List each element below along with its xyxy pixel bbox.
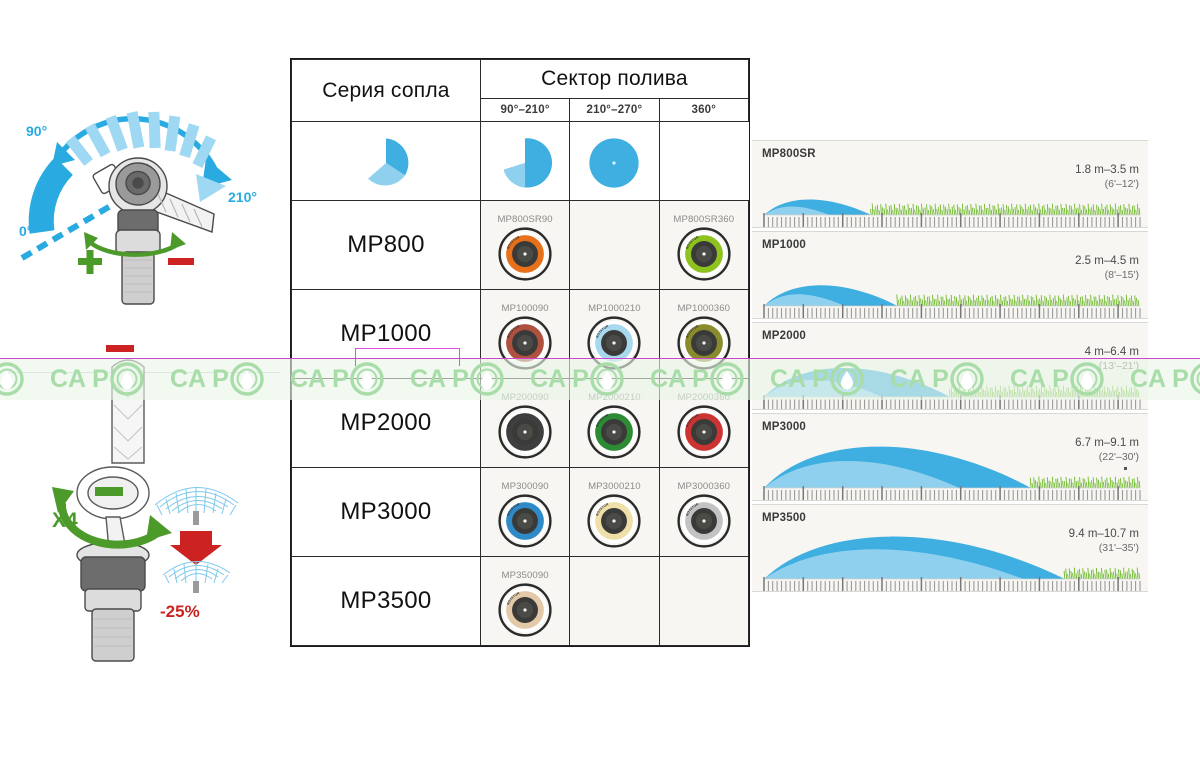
arc-adjustment-illustration: 90° 210° 0° [0, 80, 288, 310]
nozzle-code-label: MP2000210 [570, 392, 658, 403]
nozzle-icon: ROTATOR [498, 583, 552, 637]
radius-panel-MP1000: MP10002.5 m–4.5 m(8'–15') [752, 231, 1148, 319]
radius-panel-MP3000: MP30006.7 m–9.1 m(22'–30') [752, 413, 1148, 501]
series-label: MP2000 [340, 409, 431, 436]
header-sector: Сектор полива [480, 60, 748, 99]
radius-imperial: (6'–12') [1075, 177, 1139, 191]
nozzle-icon: ROTATOR [677, 316, 731, 370]
nozzle-cell-MP3000210[interactable]: MP3000210ROTATOR [570, 468, 659, 557]
nozzle-code-label: MP350090 [481, 570, 569, 581]
nozzle-cell-MP1000210[interactable]: MP1000210ROTATOR [570, 290, 659, 379]
plus-indicator [78, 250, 102, 274]
left-illustrations: 90° 210° 0° [0, 60, 288, 660]
table-row: MP3500MP350090ROTATOR [292, 557, 749, 646]
series-label: MP1000 [340, 320, 431, 347]
radius-panel-label: MP3500 [762, 512, 806, 524]
radius-panel-label: MP3000 [762, 421, 806, 433]
radius-imperial: (22'–30') [1075, 450, 1139, 464]
nozzle-cell-MP300090[interactable]: MP300090ROTATOR [480, 468, 569, 557]
radius-metric: 6.7 m–9.1 m [1075, 436, 1139, 450]
arc-label-0: 0° [19, 223, 32, 239]
nozzle-code-label: MP800SR360 [660, 214, 748, 225]
nozzle-cell-empty [570, 557, 659, 646]
series-cell-MP2000: MP2000 [292, 379, 481, 468]
series-label: MP3500 [340, 587, 431, 614]
angle-header-1: 210°–270° [570, 99, 659, 122]
rotation-reduction-illustration: X4 [0, 335, 288, 665]
radius-metric: 9.4 m–10.7 m [1069, 527, 1139, 541]
nozzle-code-label: MP3000210 [570, 481, 658, 492]
arc-label-210: 210° [228, 189, 257, 205]
minus-indicator [168, 258, 194, 265]
radius-range: 4 m–6.4 m(13'–21') [1085, 345, 1139, 373]
sector-icon-cell-0 [292, 122, 481, 201]
nozzle-cell-MP350090[interactable]: MP350090ROTATOR [480, 557, 569, 646]
nozzle-code-label: MP800SR90 [481, 214, 569, 225]
nozzle-code-label: MP1000360 [660, 303, 748, 314]
nozzle-code-label: MP100090 [481, 303, 569, 314]
nozzle-code-label: MP200090 [481, 392, 569, 403]
infographic-root: 90° 210° 0° [0, 0, 1200, 762]
series-cell-MP3500: MP3500 [292, 557, 481, 646]
radius-metric: 4 m–6.4 m [1085, 345, 1139, 359]
nozzle-cell-MP1000360[interactable]: MP1000360ROTATOR [659, 290, 748, 379]
nozzle-cell-MP2000210[interactable]: MP2000210ROTATOR [570, 379, 659, 468]
nozzle-code-label: MP1000210 [570, 303, 658, 314]
table-row: MP800MP800SR90ROTATORMP800SR360ROTATOR [292, 201, 749, 290]
radius-range: 9.4 m–10.7 m(31'–35') [1069, 527, 1139, 555]
table-row: MP3000MP300090ROTATORMP3000210ROTATORMP3… [292, 468, 749, 557]
radius-panel-label: MP2000 [762, 330, 806, 342]
nozzle-cell-MP2000360[interactable]: MP2000360ROTATOR [659, 379, 748, 468]
radius-panel-label: MP800SR [762, 148, 816, 160]
nozzle-code-label: MP300090 [481, 481, 569, 492]
radius-range: 2.5 m–4.5 m(8'–15') [1075, 254, 1139, 282]
nozzle-cell-empty [659, 557, 748, 646]
radius-range: 6.7 m–9.1 m(22'–30') [1075, 436, 1139, 464]
nozzle-icon: ROTATOR [587, 405, 641, 459]
radius-reduction-label: -25% [160, 602, 200, 621]
sector-icon-cell-1 [480, 122, 569, 201]
sector-icon-row [292, 122, 749, 201]
table-header-row: Серия соплаСектор полива [292, 60, 749, 99]
series-label: MP3000 [340, 498, 431, 525]
down-arrow-icon [170, 531, 222, 565]
sector-icon-cell-2 [570, 122, 659, 201]
nozzle-icon: ROTATOR [498, 316, 552, 370]
angle-header-0: 90°–210° [480, 99, 569, 122]
radius-metric: 1.8 m–3.5 m [1075, 163, 1139, 177]
table-row: MP2000MP200090ROTATORMP2000210ROTATORMP2… [292, 379, 749, 468]
radius-imperial: (13'–21') [1085, 359, 1139, 373]
nozzle-icon: ROTATOR [677, 405, 731, 459]
nozzle-cell-MP3000360[interactable]: MP3000360ROTATOR [659, 468, 748, 557]
nozzle-cell-MP200090[interactable]: MP200090ROTATOR [480, 379, 569, 468]
series-cell-MP800: MP800 [292, 201, 481, 290]
nozzle-icon: ROTATOR [498, 494, 552, 548]
rotation-turns-label: X4 [52, 509, 78, 532]
radius-metric: 2.5 m–4.5 m [1075, 254, 1139, 268]
nozzle-cell-MP800SR90[interactable]: MP800SR90ROTATOR [480, 201, 569, 290]
pie-360-icon [586, 135, 642, 191]
nozzle-cell-empty [570, 201, 659, 290]
image-artifact-dot [1124, 467, 1127, 470]
nozzle-cell-MP100090[interactable]: MP100090ROTATOR [480, 290, 569, 379]
radius-panel-MP2000: MP20004 m–6.4 m(13'–21') [752, 322, 1148, 410]
series-cell-MP1000: MP1000 [292, 290, 481, 379]
nozzle-code-label: MP2000360 [660, 392, 748, 403]
nozzle-code-label: MP3000360 [660, 481, 748, 492]
radius-imperial: (8'–15') [1075, 268, 1139, 282]
nozzle-icon: ROTATOR [677, 227, 731, 281]
series-cell-MP3000: MP3000 [292, 468, 481, 557]
nozzle-icon: ROTATOR [498, 227, 552, 281]
radius-range: 1.8 m–3.5 m(6'–12') [1075, 163, 1139, 191]
pie-210-270-icon [497, 135, 553, 191]
nozzle-cell-MP800SR360[interactable]: MP800SR360ROTATOR [659, 201, 748, 290]
pie-90-210-icon [358, 135, 414, 191]
radius-panel-MP3500: MP35009.4 m–10.7 m(31'–35') [752, 504, 1148, 592]
nozzle-icon: ROTATOR [587, 494, 641, 548]
angle-header-2: 360° [659, 99, 748, 122]
arc-label-90: 90° [26, 123, 47, 139]
minus-top-indicator [106, 345, 134, 352]
series-label: MP800 [347, 231, 425, 258]
nozzle-sector-table: Серия соплаСектор полива90°–210°210°–270… [290, 58, 750, 647]
nozzle-icon: ROTATOR [677, 494, 731, 548]
radius-imperial: (31'–35') [1069, 541, 1139, 555]
radius-panels: MP800SR1.8 m–3.5 m(6'–12')MP10002.5 m–4.… [752, 140, 1150, 595]
nozzle-icon: ROTATOR [587, 316, 641, 370]
nozzle-icon: ROTATOR [498, 405, 552, 459]
header-series: Серия сопла [292, 60, 481, 122]
radius-panel-label: MP1000 [762, 239, 806, 251]
radius-panel-MP800SR: MP800SR1.8 m–3.5 m(6'–12') [752, 140, 1148, 228]
table-row: MP1000MP100090ROTATORMP1000210ROTATORMP1… [292, 290, 749, 379]
